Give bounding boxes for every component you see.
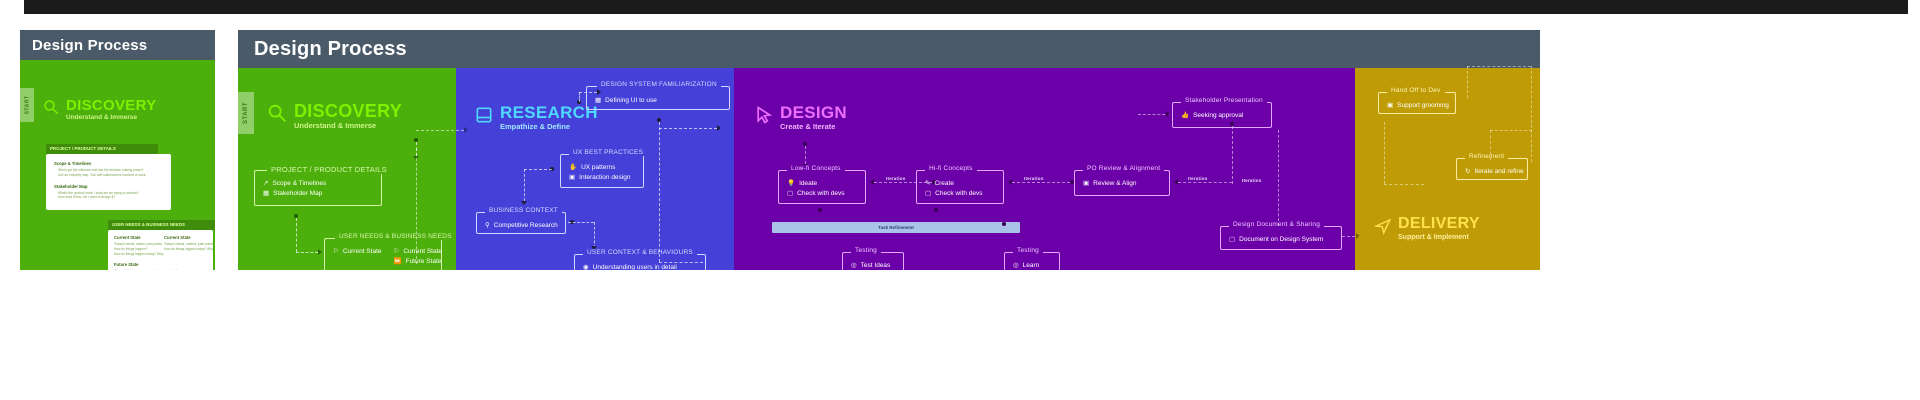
- thumbnail-title: Design Process: [32, 37, 147, 54]
- connector-arrow: [717, 125, 721, 131]
- card-row-label: Understanding users in detail: [593, 263, 677, 270]
- main-header: Design Process: [238, 30, 1540, 68]
- card-legend: Low-fi Concepts: [787, 165, 845, 172]
- thumbnail-doc2-col2-b2: How do things happen today? Why: [164, 247, 215, 252]
- connector-dot: [818, 208, 822, 212]
- thumbnail-doc1-row2-label: Stakeholder Map: [54, 184, 146, 189]
- card-project-product-details[interactable]: PROJECT / PRODUCT DETAILS ↗ Scope & Time…: [254, 170, 382, 206]
- connector-line: [524, 169, 525, 201]
- card-row: 👍 Seeking approval: [1181, 111, 1263, 121]
- connector-line: [296, 252, 318, 253]
- card-row: 💡 Ideate: [787, 179, 857, 189]
- connector-line: [1384, 184, 1424, 185]
- card-low-fi-concepts[interactable]: Low-fi Concepts 💡 Ideate ▢ Check with de…: [778, 170, 866, 204]
- thumbnail-doc2-future-b1: Where is the business today for the prod…: [114, 269, 188, 270]
- loop-icon: ↻: [1465, 167, 1470, 177]
- card-row-label: Current State: [343, 247, 382, 257]
- connector-line: [1178, 182, 1232, 183]
- card-legend: Design Document & Sharing: [1229, 221, 1324, 228]
- thumbnail-header: Design Process: [20, 30, 215, 60]
- thumbnail-doc-card-2[interactable]: Current State Today's needs, admin, pain…: [108, 230, 213, 270]
- card-hand-off-to-dev[interactable]: Hand Off to Dev ▣ Support grooming: [1378, 92, 1456, 114]
- phone-icon: ▣: [569, 173, 575, 183]
- card-row-label: Seeking approval: [1193, 111, 1243, 121]
- thumbup-icon: 👍: [1181, 111, 1189, 121]
- card-design-document-sharing[interactable]: Design Document & Sharing ▢ Document on …: [1220, 226, 1342, 250]
- card-row-label: Learn: [1023, 261, 1040, 270]
- card-row-label: Check with devs: [797, 189, 844, 199]
- card-row: ▢ Document on Design System: [1229, 235, 1333, 245]
- card-row: ▣ Review & Align: [1083, 179, 1161, 189]
- top-strip-right-gap: [1908, 0, 1920, 14]
- card-row-label: Support grooming: [1397, 101, 1449, 111]
- card-row-label: Ideate: [799, 179, 817, 189]
- card-row-label: Scope & Timelines: [272, 179, 326, 189]
- cursor-icon: [754, 105, 774, 130]
- card-row: ⚐ Current State: [394, 247, 443, 257]
- card-row: ▢ Check with devs: [925, 189, 995, 199]
- thumbnail-card2-legend: USER NEEDS & BUSINESS NEEDS: [112, 222, 185, 227]
- connector-line: [659, 262, 703, 263]
- connector-line: [579, 92, 580, 102]
- card-legend: Testing: [1013, 247, 1043, 254]
- send-icon: [1374, 217, 1392, 240]
- connector-arrow: [464, 127, 468, 133]
- card-legend: Hi-fi Concepts: [925, 165, 977, 172]
- flag-icon: ⚐: [394, 247, 400, 257]
- phase-title-delivery: DELIVERY Support & Implement: [1374, 216, 1480, 241]
- card-row-label: Review & Align: [1093, 179, 1136, 189]
- card-row-label: Current State: [403, 247, 442, 257]
- connector-line: [296, 218, 297, 252]
- card-row-label: Check with devs: [935, 189, 982, 199]
- card-user-business-needs[interactable]: USER NEEDS & BUSINESS NEEDS ⚐ Current St…: [324, 238, 442, 270]
- card-legend: Stakeholder Presentation: [1181, 97, 1267, 104]
- phase-sub-discovery: Understand & Immerse: [294, 122, 402, 130]
- card-legend: DESIGN SYSTEM FAMILIARIZATION: [597, 81, 721, 88]
- card-row: ▣ Interaction design: [569, 173, 635, 183]
- pen-icon: ✎: [925, 179, 930, 189]
- card-row: ⚐ Current State: [333, 247, 382, 257]
- card-row-label: Test Ideas: [861, 261, 891, 270]
- connector-arrow: [318, 249, 322, 255]
- connector-line: [594, 222, 595, 248]
- eye-icon: ◉: [583, 263, 589, 270]
- thumbnail-start-tab: START: [20, 88, 34, 122]
- connector-line: [1467, 66, 1531, 67]
- connector-line: [1531, 66, 1532, 162]
- card-row-label: UX patterns: [581, 163, 615, 173]
- card-row: ✋ UX patterns: [569, 163, 635, 173]
- chat-icon: ▢: [787, 189, 793, 199]
- connector-line: [1232, 126, 1233, 184]
- card-row-label: Stakeholder Map: [273, 189, 322, 199]
- grid-icon: ▦: [595, 96, 601, 106]
- card-row: ⏩ Future State: [394, 257, 443, 267]
- top-strip-left-gap: [0, 0, 24, 14]
- card-testing-1[interactable]: Testing ◎ Test Ideas: [842, 252, 904, 270]
- thumbnail-doc1-row1-b2: Use an empathy map. Tool with stakeholde…: [58, 173, 146, 178]
- card-row: ↻ Iterate and refine: [1465, 167, 1519, 177]
- connector-line: [1384, 122, 1385, 184]
- card-stakeholder-presentation[interactable]: Stakeholder Presentation 👍 Seeking appro…: [1172, 102, 1272, 128]
- thumbnail-board[interactable]: Design Process START DISCOVERY Understan…: [20, 30, 215, 270]
- card-row: ⚲ Competitive Research: [485, 221, 557, 231]
- bulb-icon: 💡: [787, 179, 795, 189]
- card-testing-2[interactable]: Testing ◎ Learn: [1004, 252, 1060, 270]
- phase-name-research: RESEARCH: [500, 104, 598, 121]
- card-legend: Testing: [851, 247, 881, 254]
- task-refinement-bar[interactable]: Task Refinement: [772, 222, 1020, 233]
- clipboard-icon: ▣: [1083, 179, 1089, 189]
- phase-name-design: DESIGN: [780, 104, 847, 121]
- thumbnail-phase-discovery: DISCOVERY Understand & Immerse: [42, 98, 157, 122]
- window-top-strip: [0, 0, 1920, 14]
- card-ux-best-practices[interactable]: UX BEST PRACTICES ✋ UX patterns ▣ Intera…: [560, 154, 644, 188]
- iteration-label: Iteration: [1024, 176, 1044, 181]
- thumbnail-doc2-col2-label: Current State: [164, 235, 215, 240]
- card-row-label: Competitive Research: [494, 221, 558, 231]
- search-icon: ⚲: [485, 221, 490, 231]
- card-row-label: Defining UI to use: [605, 96, 657, 106]
- card-legend: Refinement: [1465, 153, 1508, 160]
- card-row: ◉ Understanding users in detail: [583, 263, 697, 270]
- flag-icon: ⚐: [333, 247, 339, 257]
- connector-line: [416, 148, 417, 264]
- thumbnail-phase-subtitle: Understand & Immerse: [66, 115, 157, 122]
- connector-arrow: [1166, 111, 1170, 117]
- thumbnail-doc2-future-label: Future State: [114, 262, 188, 267]
- card-business-context[interactable]: BUSINESS CONTEXT ⚲ Competitive Research: [476, 212, 566, 234]
- connector-line: [1278, 130, 1279, 226]
- phase-name-delivery: DELIVERY: [1398, 216, 1480, 232]
- card-row: ▣ Support grooming: [1387, 101, 1447, 111]
- connector-dot: [934, 208, 938, 212]
- card-row-label: Interaction design: [579, 173, 630, 183]
- task-refinement-label: Task Refinement: [878, 225, 914, 230]
- thumbnail-doc1-row1-label: Scope & Timelines: [54, 161, 146, 166]
- card-legend: USER NEEDS & BUSINESS NEEDS: [335, 233, 456, 240]
- connector-line: [1490, 130, 1532, 131]
- card-hi-fi-concepts[interactable]: Hi-fi Concepts ✎ Create ▢ Check with dev…: [916, 170, 1004, 204]
- card-legend: USER CONTEXT & BEHAVIOURS: [583, 249, 697, 256]
- map-icon: ▦: [263, 189, 269, 199]
- trend-icon: ↗: [263, 179, 268, 189]
- thumbnail-doc2-col1-b3: How do things happen today? Why: [114, 252, 188, 257]
- connector-dot: [1002, 222, 1006, 226]
- magnifier-icon: [42, 98, 60, 121]
- book-icon: [474, 105, 494, 130]
- card-legend: PO Review & Alignment: [1083, 165, 1164, 172]
- connector-line: [416, 130, 464, 131]
- card-row: ✎ Create: [925, 179, 995, 189]
- connector-line: [1467, 66, 1468, 98]
- connector-arrow: [521, 201, 527, 205]
- phase-sub-delivery: Support & Implement: [1398, 234, 1480, 241]
- connector-arrow: [1356, 233, 1360, 239]
- phase-title-research: RESEARCH Empathize & Define: [474, 104, 598, 131]
- forward-icon: ⏩: [394, 257, 402, 267]
- thumbnail-phase-name: DISCOVERY: [66, 98, 157, 113]
- iteration-label: Iteration: [1188, 176, 1208, 181]
- magnifier-icon: [266, 102, 288, 129]
- connector-line: [1490, 130, 1491, 160]
- card-row: ▦ Stakeholder Map: [263, 189, 373, 199]
- card-row-label: Document on Design System: [1239, 235, 1323, 245]
- card-row-label: Iterate and refine: [1474, 167, 1523, 177]
- card-refinement[interactable]: Refinement ↻ Iterate and refine: [1456, 158, 1528, 180]
- card-row: ▦ Defining UI to use: [595, 96, 721, 106]
- card-legend: BUSINESS CONTEXT: [485, 207, 562, 214]
- connector-line: [659, 122, 660, 262]
- chat-icon: ▢: [925, 189, 931, 199]
- card-row-label: Future State: [406, 257, 442, 267]
- card-design-system-familiarization[interactable]: DESIGN SYSTEM FAMILIARIZATION ▦ Defining…: [586, 86, 730, 110]
- thumbnail-card1-legend: PROJECT / PRODUCT DETAILS: [50, 146, 116, 151]
- handoff-icon: ▣: [1387, 101, 1393, 111]
- connector-line: [659, 128, 717, 129]
- target-icon: ◎: [851, 261, 857, 270]
- screenshot-root: Design Process START DISCOVERY Understan…: [0, 0, 1920, 400]
- card-row-label: Create: [934, 179, 954, 189]
- main-board[interactable]: Design Process START DISCOVERY Understan…: [238, 30, 1540, 270]
- iteration-label: Iteration: [1242, 178, 1262, 183]
- thumbnail-start-label: START: [24, 96, 30, 115]
- thumbnail-doc1-row2-b2: How does it flow, the I need to design i…: [58, 195, 146, 200]
- card-legend: UX BEST PRACTICES: [569, 149, 647, 156]
- phase-title-design: DESIGN Create & Iterate: [754, 104, 847, 131]
- iteration-label: Iteration: [886, 176, 906, 181]
- thumbnail-doc-card-1[interactable]: Scope & Timelines Who's got the influenc…: [46, 154, 171, 210]
- phase-title-discovery: DISCOVERY Understand & Immerse: [266, 102, 402, 130]
- connector-line: [805, 146, 806, 164]
- phase-sub-design: Create & Iterate: [780, 123, 847, 131]
- card-legend: Hand Off to Dev: [1387, 87, 1445, 94]
- phase-sub-research: Empathize & Define: [500, 123, 598, 131]
- card-row: ▢ Check with devs: [787, 189, 857, 199]
- connector-line: [524, 169, 552, 170]
- connector-line: [1012, 182, 1070, 183]
- card-po-review-alignment[interactable]: PO Review & Alignment ▣ Review & Align: [1074, 170, 1170, 196]
- card-legend: PROJECT / PRODUCT DETAILS: [267, 165, 391, 174]
- card-row: ↗ Scope & Timelines: [263, 179, 373, 189]
- main-start-label: START: [243, 102, 249, 124]
- hand-icon: ✋: [569, 163, 577, 173]
- target-icon: ◎: [1013, 261, 1019, 270]
- main-start-tab: START: [238, 92, 254, 134]
- main-title: Design Process: [254, 38, 407, 61]
- card-row: ◎ Learn: [1013, 261, 1051, 270]
- doc-icon: ▢: [1229, 235, 1235, 245]
- phase-name-discovery: DISCOVERY: [294, 102, 402, 120]
- connector-line: [568, 222, 594, 223]
- card-row: ◎ Test Ideas: [851, 261, 895, 270]
